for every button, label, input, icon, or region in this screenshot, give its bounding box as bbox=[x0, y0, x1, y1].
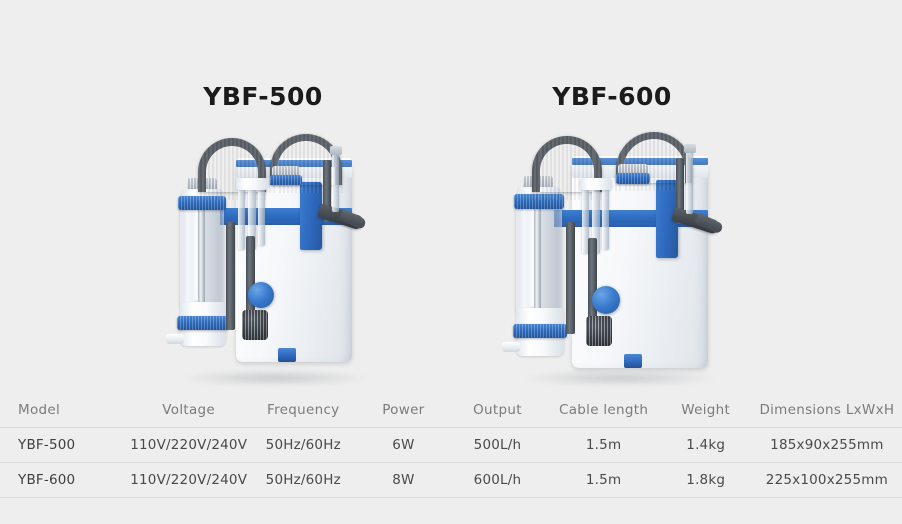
product-title-ybf-600: YBF-600 bbox=[512, 82, 712, 111]
center-tube-head bbox=[236, 178, 268, 190]
cell-model: YBF-600 bbox=[0, 463, 130, 498]
cell-cable-length: 1.5m bbox=[548, 428, 660, 463]
outlet-spout bbox=[502, 342, 520, 352]
cell-power: 6W bbox=[359, 428, 447, 463]
right-sight-tube bbox=[332, 152, 339, 212]
product-shadow bbox=[183, 370, 368, 386]
product-titles: YBF-500 YBF-600 bbox=[0, 82, 902, 118]
skimmer-top-collar bbox=[178, 196, 226, 210]
cell-weight: 1.8kg bbox=[660, 463, 752, 498]
flow-control-dial bbox=[248, 282, 274, 308]
product-comparison-page: YBF-500 YBF-600 bbox=[0, 0, 902, 524]
center-tube-c bbox=[258, 188, 265, 246]
column-header-cable-length: Cable length bbox=[548, 396, 660, 428]
product-shadow bbox=[524, 370, 717, 386]
outlet-spout bbox=[166, 334, 184, 344]
product-image-ybf-500 bbox=[160, 130, 385, 382]
skimmer-cup-collar bbox=[177, 316, 229, 330]
flow-control-dial bbox=[592, 286, 620, 314]
cell-cable-length: 1.5m bbox=[548, 463, 660, 498]
impeller-shaft bbox=[226, 222, 235, 330]
column-header-power: Power bbox=[359, 396, 447, 428]
hose-port-collar bbox=[270, 175, 302, 185]
cell-model: YBF-500 bbox=[0, 428, 130, 463]
cell-frequency: 50Hz/60Hz bbox=[247, 428, 359, 463]
table-row: YBF-500 110V/220V/240V 50Hz/60Hz 6W 500L… bbox=[0, 428, 902, 463]
cell-dimensions: 185x90x255mm bbox=[752, 428, 902, 463]
impeller-shaft bbox=[566, 222, 575, 334]
skimmer-cup-collar bbox=[513, 324, 567, 338]
skimmer-riser-tube bbox=[198, 204, 205, 308]
hose-port-collar bbox=[616, 173, 650, 184]
sight-tube-cap bbox=[330, 146, 342, 155]
cell-output: 500L/h bbox=[447, 428, 547, 463]
cell-voltage: 110V/220V/240V bbox=[130, 463, 247, 498]
center-tube-a bbox=[238, 188, 245, 250]
product-title-ybf-500: YBF-500 bbox=[163, 82, 363, 111]
center-tube-c bbox=[602, 188, 609, 250]
column-header-model: Model bbox=[0, 396, 130, 428]
cell-power: 8W bbox=[359, 463, 447, 498]
cell-output: 600L/h bbox=[447, 463, 547, 498]
specifications-table: Model Voltage Frequency Power Output Cab… bbox=[0, 396, 902, 498]
bottom-clip bbox=[624, 354, 642, 368]
column-header-dimensions: Dimensions LxWxH bbox=[752, 396, 902, 428]
bottom-clip bbox=[278, 348, 296, 362]
sight-tube-cap bbox=[684, 144, 696, 153]
table-row: YBF-600 110V/220V/240V 50Hz/60Hz 8W 600L… bbox=[0, 463, 902, 498]
column-header-frequency: Frequency bbox=[247, 396, 359, 428]
skimmer-top-collar bbox=[514, 194, 564, 209]
right-sight-tube bbox=[686, 150, 693, 214]
cell-dimensions: 225x100x255mm bbox=[752, 463, 902, 498]
center-tube-head bbox=[580, 178, 612, 190]
cell-weight: 1.4kg bbox=[660, 428, 752, 463]
table-header-row: Model Voltage Frequency Power Output Cab… bbox=[0, 396, 902, 428]
cell-frequency: 50Hz/60Hz bbox=[247, 463, 359, 498]
skimmer-riser-tube bbox=[534, 204, 541, 314]
column-header-weight: Weight bbox=[660, 396, 752, 428]
ribbed-knob bbox=[242, 310, 268, 340]
product-image-ybf-600 bbox=[500, 130, 735, 382]
cell-voltage: 110V/220V/240V bbox=[130, 428, 247, 463]
column-header-voltage: Voltage bbox=[130, 396, 247, 428]
column-header-output: Output bbox=[447, 396, 547, 428]
ribbed-knob bbox=[586, 316, 612, 346]
